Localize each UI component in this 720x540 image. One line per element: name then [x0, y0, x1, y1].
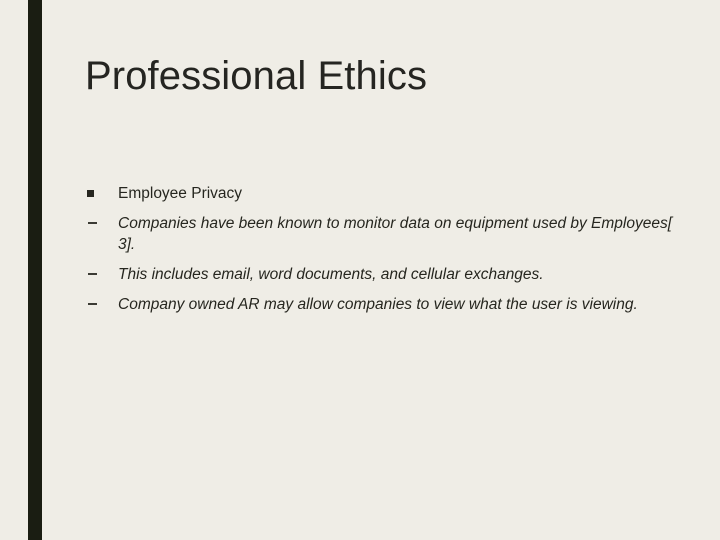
- filled-square-bullet-icon: [87, 190, 94, 197]
- dash-bullet-icon: [88, 222, 97, 224]
- list-item-label: Employee Privacy: [118, 183, 675, 204]
- left-accent-bar: [28, 0, 42, 540]
- list-item-label: Companies have been known to monitor dat…: [118, 213, 675, 255]
- page-title: Professional Ethics: [85, 52, 685, 100]
- list-item-label: Company owned AR may allow companies to …: [118, 294, 675, 315]
- list-item: Company owned AR may allow companies to …: [85, 294, 675, 315]
- list-item: This includes email, word documents, and…: [85, 264, 675, 285]
- list-item: Employee Privacy: [85, 183, 675, 204]
- list-item: Companies have been known to monitor dat…: [85, 213, 675, 255]
- dash-bullet-icon: [88, 303, 97, 305]
- presentation-slide: Professional Ethics Employee Privacy Com…: [0, 0, 720, 540]
- list-item-label: This includes email, word documents, and…: [118, 264, 675, 285]
- bullet-list: Employee Privacy Companies have been kno…: [85, 183, 675, 315]
- dash-bullet-icon: [88, 273, 97, 275]
